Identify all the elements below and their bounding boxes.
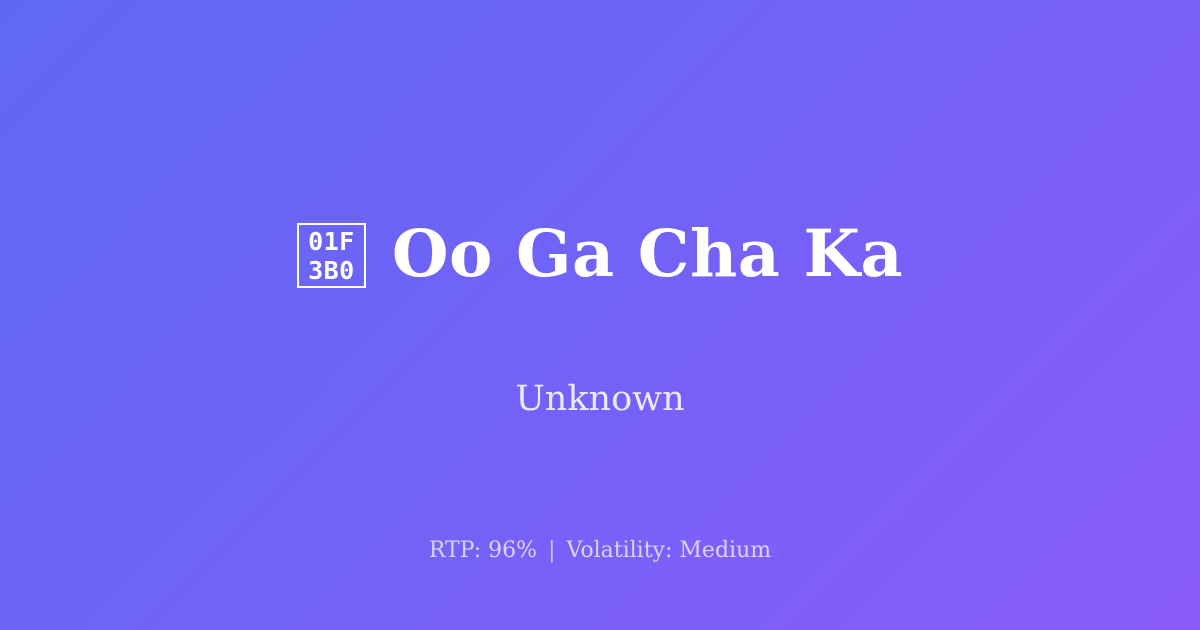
volatility-label: Volatility:	[567, 538, 673, 563]
game-title: Oo Ga Cha Ka	[392, 221, 903, 289]
game-share-card: 01F 3B0 Oo Ga Cha Ka Unknown RTP: 96% | …	[0, 0, 1200, 630]
tofu-codepoint-top: 01F	[308, 227, 355, 256]
volatility-value: Medium	[679, 538, 771, 563]
rtp-value: 96%	[488, 538, 537, 563]
title-row: 01F 3B0 Oo Ga Cha Ka	[297, 177, 903, 332]
stats-separator: |	[544, 538, 559, 563]
game-stats: RTP: 96% | Volatility: Medium	[0, 538, 1200, 564]
game-provider: Unknown	[515, 380, 684, 419]
rtp-label: RTP:	[429, 538, 481, 563]
tofu-codepoint-bottom: 3B0	[308, 256, 355, 285]
slot-machine-icon: 01F 3B0	[297, 223, 366, 288]
hero-block: 01F 3B0 Oo Ga Cha Ka Unknown	[297, 177, 903, 418]
